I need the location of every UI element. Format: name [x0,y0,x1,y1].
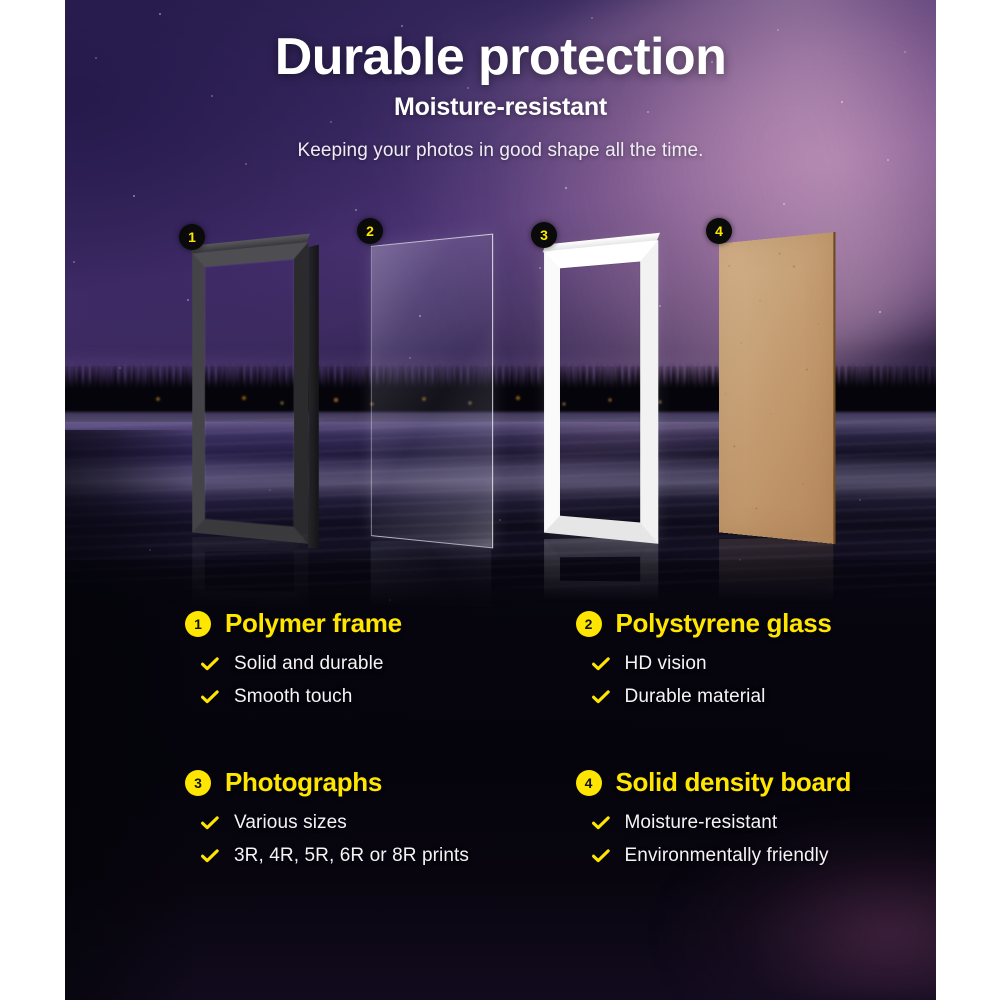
feature-badge-4: 4 [576,770,602,796]
feature-4-heading: 4 Solid density board [576,767,937,798]
list-item: Various sizes [201,812,491,834]
check-icon [592,847,610,865]
features-grid: 1 Polymer frame Solid and durable Smooth… [65,608,936,878]
solid-density-board-reflection [719,537,833,601]
frame-side-depth [308,245,319,549]
feature-4-bullets: Moisture-resistant Environmentally frien… [576,812,937,867]
exploded-layer-diagram: 1 2 3 4 [65,218,936,598]
polymer-frame-layer [192,242,308,544]
left-page-margin [0,0,65,1000]
right-page-margin [936,0,1000,1000]
check-icon [201,847,219,865]
diagram-badge-4: 4 [706,218,732,244]
bullet-text: Durable material [625,686,766,708]
check-icon [201,688,219,706]
feature-block-4: 4 Solid density board Moisture-resistant… [511,767,937,878]
feature-2-heading: 2 Polystyrene glass [576,608,937,639]
check-icon [592,814,610,832]
polystyrene-glass-layer [371,234,493,549]
feature-1-heading: 1 Polymer frame [185,608,491,639]
check-icon [592,655,610,673]
list-item: Durable material [592,686,937,708]
product-infographic: Durable protection Moisture-resistant Ke… [0,0,1000,1000]
photograph-mat-reflection [544,537,658,601]
photograph-mat-layer [544,240,658,544]
feature-block-1: 1 Polymer frame Solid and durable Smooth… [65,608,491,719]
list-item: Moisture-resistant [592,812,937,834]
feature-2-bullets: HD vision Durable material [576,653,937,708]
feature-3-heading: 3 Photographs [185,767,491,798]
list-item: Environmentally friendly [592,845,937,867]
diagram-badge-3: 3 [531,222,557,248]
feature-title-4: Solid density board [616,767,852,798]
list-item: Solid and durable [201,653,491,675]
list-item: HD vision [592,653,937,675]
bullet-text: Various sizes [234,812,347,834]
feature-3-bullets: Various sizes 3R, 4R, 5R, 6R or 8R print… [185,812,491,867]
solid-density-board-layer [719,232,835,544]
feature-block-2: 2 Polystyrene glass HD vision Durable ma… [511,608,937,719]
bullet-text: Environmentally friendly [625,845,829,867]
frame-reflection-face [192,535,308,608]
bullet-text: HD vision [625,653,707,675]
diagram-badge-2: 2 [357,218,383,244]
feature-title-1: Polymer frame [225,608,402,639]
bullet-text: Moisture-resistant [625,812,778,834]
feature-badge-2: 2 [576,611,602,637]
polystyrene-glass-reflection [371,539,491,608]
frame-face [192,242,308,544]
check-icon [201,655,219,673]
diagram-badge-1: 1 [179,224,205,250]
page-title: Durable protection [65,30,936,85]
page-tagline: Keeping your photos in good shape all th… [65,140,936,162]
feature-title-2: Polystyrene glass [616,608,832,639]
feature-title-3: Photographs [225,767,382,798]
polymer-frame-reflection [192,535,308,608]
check-icon [592,688,610,706]
bullet-text: Solid and durable [234,653,384,675]
list-item: 3R, 4R, 5R, 6R or 8R prints [201,845,491,867]
feature-badge-1: 1 [185,611,211,637]
check-icon [201,814,219,832]
page-subtitle: Moisture-resistant [65,93,936,122]
feature-badge-3: 3 [185,770,211,796]
bullet-text: 3R, 4R, 5R, 6R or 8R prints [234,845,469,867]
bullet-text: Smooth touch [234,686,352,708]
mat-reflection-face [544,537,658,601]
feature-block-3: 3 Photographs Various sizes 3R, 4R, 5R, … [65,767,491,878]
feature-1-bullets: Solid and durable Smooth touch [185,653,491,708]
list-item: Smooth touch [201,686,491,708]
mat-face [544,240,658,544]
header-block: Durable protection Moisture-resistant Ke… [65,30,936,162]
